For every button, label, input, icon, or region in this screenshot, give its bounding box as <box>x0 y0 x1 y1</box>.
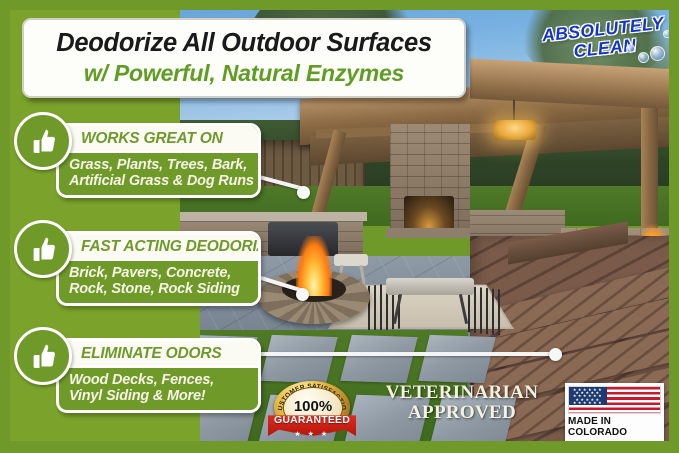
counter-top <box>174 212 367 221</box>
seal-percent: 100% <box>294 399 332 414</box>
seal-stars: ★ ★ ★ <box>268 430 356 438</box>
headline-line-1: Deodorize All Outdoor Surfaces <box>56 31 431 57</box>
pointer-dot-2 <box>296 288 309 301</box>
patio-table <box>386 278 474 295</box>
fireplace-firebox <box>404 196 454 230</box>
vet-line-1: VETERINARIAN <box>378 383 546 403</box>
feature-line: Grass, Plants, Trees, Bark, <box>69 157 250 173</box>
feature-line: Wood Decks, Fences, <box>69 372 250 388</box>
made-in-colorado-badge: ★★★★★★★★★★★★★★★★★★★★★★★★★★★★ MADE IN COL… <box>565 383 664 441</box>
stepping-paver <box>418 335 495 383</box>
bubble-icon <box>650 46 665 61</box>
headline-banner: Deodorize All Outdoor Surfaces w/ Powerf… <box>22 18 466 98</box>
feature-header: FAST ACTING DEODORIZER <box>59 234 258 259</box>
pavilion-post <box>641 108 658 228</box>
pointer-dot-1 <box>297 186 310 199</box>
lamp-rod <box>513 100 515 122</box>
hanging-lamp <box>494 120 536 140</box>
feature-card-3: ELIMINATE ODORS Wood Decks, Fences, Viny… <box>56 338 261 413</box>
feature-title: ELIMINATE ODORS <box>81 345 222 362</box>
feature-card-body: ELIMINATE ODORS Wood Decks, Fences, Viny… <box>56 338 261 413</box>
us-flag-icon: ★★★★★★★★★★★★★★★★★★★★★★★★★★★★ <box>568 386 661 414</box>
feature-title: WORKS GREAT ON <box>81 130 223 147</box>
feature-line: Vinyl Siding & More! <box>69 388 250 404</box>
pointer-line-3 <box>232 352 558 356</box>
pointer-dot-3 <box>549 348 562 361</box>
thumbs-up-icon <box>14 327 72 385</box>
seal-ribbon-label: GUARANTEED <box>274 414 350 426</box>
feature-card-1: WORKS GREAT ON Grass, Plants, Trees, Bar… <box>56 123 261 198</box>
bar-stool <box>334 254 368 266</box>
product-ad-image: Deodorize All Outdoor Surfaces w/ Powerf… <box>0 0 679 453</box>
fireplace-hearth <box>386 228 478 238</box>
veterinarian-approved-badge: VETERINARIAN APPROVED <box>378 383 546 423</box>
headline-line-2: w/ Powerful, Natural Enzymes <box>84 62 404 85</box>
bubble-icon <box>626 44 635 53</box>
feature-card-body: WORKS GREAT ON Grass, Plants, Trees, Bar… <box>56 123 261 198</box>
feature-header: WORKS GREAT ON <box>59 126 258 151</box>
guarantee-seal-icon: CUSTOMER SATISFACTION 100% GUARANTEED ★ … <box>268 381 356 443</box>
feature-line: Artificial Grass & Dog Runs <box>69 173 250 189</box>
bubble-icon <box>638 52 649 63</box>
fire-pit-flame <box>296 236 332 296</box>
stepping-paver <box>340 335 417 383</box>
feature-list: Wood Decks, Fences, Vinyl Siding & More! <box>59 366 258 410</box>
green-frame-bottom <box>0 441 679 453</box>
flag-stars: ★★★★★★★★★★★★★★★★★★★★★★★★★★★★ <box>573 388 603 404</box>
feature-line: Brick, Pavers, Concrete, <box>69 265 250 281</box>
vet-line-2: APPROVED <box>378 403 546 423</box>
colorado-caption: MADE IN COLORADO <box>568 416 661 438</box>
flag-canton: ★★★★★★★★★★★★★★★★★★★★★★★★★★★★ <box>569 387 607 405</box>
feature-card-body: FAST ACTING DEODORIZER Brick, Pavers, Co… <box>56 231 261 306</box>
feature-header: ELIMINATE ODORS <box>59 341 258 366</box>
feature-card-2: FAST ACTING DEODORIZER Brick, Pavers, Co… <box>56 231 261 306</box>
thumbs-up-icon <box>14 112 72 170</box>
feature-list: Brick, Pavers, Concrete, Rock, Stone, Ro… <box>59 259 258 303</box>
stepping-paver <box>260 335 337 383</box>
bubble-icon <box>663 30 671 38</box>
feature-title: FAST ACTING DEODORIZER <box>81 238 261 255</box>
feature-list: Grass, Plants, Trees, Bark, Artificial G… <box>59 151 258 195</box>
thumbs-up-icon <box>14 220 72 278</box>
feature-line: Rock, Stone, Rock Siding <box>69 281 250 297</box>
